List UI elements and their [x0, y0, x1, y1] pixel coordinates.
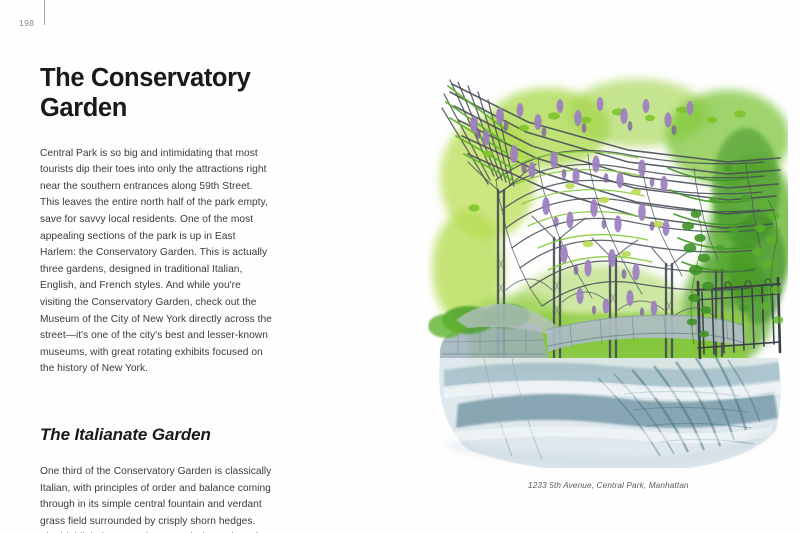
- intro-paragraph: Central Park is so big and intimidating …: [40, 146, 272, 378]
- page-number: 198: [19, 18, 34, 28]
- illustration-caption: 1233 5th Avenue, Central Park, Manhattan: [528, 481, 689, 490]
- wisteria-pergola-illustration: [428, 58, 788, 468]
- text-column: The Conservatory Garden Central Park is …: [40, 64, 272, 533]
- section-title: The Italianate Garden: [40, 425, 272, 445]
- book-page-spread: 198 The Conservatory Garden Central Park…: [0, 0, 800, 533]
- section-paragraph: One third of the Conservatory Garden is …: [40, 464, 272, 533]
- chapter-title: The Conservatory Garden: [40, 64, 255, 124]
- folio-divider-rule: [44, 0, 45, 25]
